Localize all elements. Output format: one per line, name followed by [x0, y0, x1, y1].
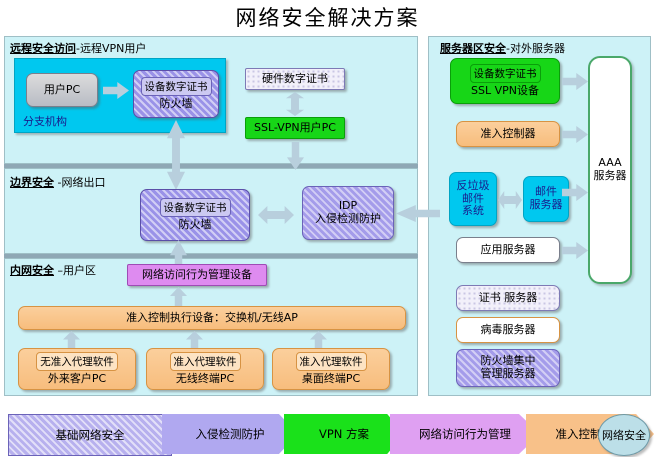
cert-server-label: 证书 服务器	[479, 292, 538, 305]
terminal-box-1-top-label: 无准入代理软件	[40, 356, 114, 368]
virus-server-label: 病毒服务器	[481, 324, 536, 337]
banner-step-2[interactable]: 入侵检测防护	[162, 414, 298, 454]
banner-step-3[interactable]: VPN 方案	[284, 414, 404, 454]
banner-step-2-label: 入侵检测防护	[196, 426, 265, 442]
mail-server-box[interactable]: 邮件 服务器	[523, 176, 569, 222]
antispam-line-3: 系统	[462, 205, 484, 218]
aaa-server-line-2: 服务器	[594, 170, 627, 183]
mail-server-line-2: 服务器	[530, 199, 563, 212]
virus-server-box[interactable]: 病毒服务器	[456, 317, 560, 343]
ssl-vpn-device-cert-label: 设备数字证书	[474, 68, 537, 80]
ssl-vpn-user-pc-label: SSL-VPN用户PC	[254, 122, 336, 135]
access-exec-device-box[interactable]: 准入控制执行设备：交换机/无线AP	[18, 306, 406, 330]
idp-box[interactable]: IDP 入侵检测防护	[302, 186, 394, 240]
banner-step-4[interactable]: 网络访问行为管理	[390, 414, 540, 454]
hardware-cert-box[interactable]: 硬件数字证书	[245, 68, 345, 90]
section-label-intranet: 内网安全 –用户区	[10, 262, 96, 278]
idp-label-line2: 入侵检测防护	[315, 213, 381, 226]
section-label-intranet-bold: 内网安全	[10, 264, 54, 277]
section-label-remote-bold: 远程安全访问	[10, 42, 76, 55]
antispam-system-box[interactable]: 反垃圾 邮件 系统	[449, 172, 497, 226]
access-controller-box[interactable]: 准入控制器	[456, 121, 560, 147]
firewall-mgmt-server-box[interactable]: 防火墙集中 管理服务器	[456, 349, 560, 387]
page-title: 网络安全解决方案	[0, 2, 655, 32]
terminal-box-2[interactable]: 准入代理软件 无线终端PC	[146, 348, 264, 390]
terminal-box-3-bottom-label: 桌面终端PC	[302, 373, 360, 386]
terminal-box-2-top: 准入代理软件	[170, 352, 241, 371]
terminal-box-2-bottom-label: 无线终端PC	[176, 373, 234, 386]
terminal-box-3[interactable]: 准入代理软件 桌面终端PC	[272, 348, 390, 390]
solution-flow-banner: 基础网络安全 入侵检测防护 VPN 方案 网络访问行为管理 准入控制方案	[8, 414, 648, 454]
behavior-mgmt-device-label: 网络访问行为管理设备	[142, 269, 252, 282]
access-controller-label: 准入控制器	[481, 128, 536, 141]
behavior-mgmt-device-box[interactable]: 网络访问行为管理设备	[127, 264, 267, 286]
terminal-box-3-top: 准入代理软件	[296, 352, 367, 371]
branch-office-label: 分支机构	[23, 113, 67, 129]
border-firewall-box[interactable]: 设备数字证书 防火墙	[140, 189, 250, 241]
border-firewall-label: 防火墙	[179, 219, 212, 232]
user-pc-box[interactable]: 用户PC	[26, 73, 98, 107]
banner-result-ellipse[interactable]: 网络安全	[598, 414, 650, 456]
section-label-border-bold: 边界安全	[10, 176, 54, 189]
ssl-vpn-device-box[interactable]: 设备数字证书 SSL VPN设备	[450, 58, 560, 104]
banner-step-4-label: 网络访问行为管理	[419, 426, 511, 442]
ssl-vpn-device-cert-box: 设备数字证书	[470, 64, 541, 83]
section-label-server: 服务器区安全-对外服务器	[440, 40, 565, 56]
antispam-line-1: 反垃圾	[457, 180, 490, 193]
section-label-remote-rest: -远程VPN用户	[76, 42, 146, 55]
banner-result-label: 网络安全	[602, 427, 646, 443]
remote-firewall-cert-label: 设备数字证书	[145, 81, 208, 93]
ssl-vpn-device-label: SSL VPN设备	[471, 85, 539, 98]
section-label-server-bold: 服务器区安全	[440, 42, 506, 55]
hardware-cert-label: 硬件数字证书	[262, 73, 328, 86]
remote-firewall-label: 防火墙	[160, 98, 193, 111]
aaa-server-box[interactable]: AAA 服务器	[588, 56, 632, 284]
banner-step-1[interactable]: 基础网络安全	[8, 414, 172, 456]
border-firewall-cert-label: 设备数字证书	[164, 202, 227, 214]
user-pc-label: 用户PC	[44, 84, 80, 97]
terminal-box-2-top-label: 准入代理软件	[174, 356, 237, 368]
ssl-vpn-user-pc-box[interactable]: SSL-VPN用户PC	[245, 117, 345, 139]
border-firewall-cert-box: 设备数字证书	[160, 198, 231, 217]
banner-step-3-label: VPN 方案	[319, 426, 369, 442]
access-exec-device-label: 准入控制执行设备：交换机/无线AP	[126, 312, 298, 325]
app-server-label: 应用服务器	[481, 244, 536, 257]
remote-firewall-cert-box: 设备数字证书	[141, 77, 212, 96]
terminal-box-1-bottom-label: 外来客户PC	[48, 373, 106, 386]
remote-firewall-box[interactable]: 设备数字证书 防火墙	[133, 70, 219, 118]
section-label-border: 边界安全 -网络出口	[10, 174, 105, 190]
section-label-remote: 远程安全访问-远程VPN用户	[10, 40, 146, 56]
section-label-border-rest: -网络出口	[54, 176, 105, 189]
app-server-box[interactable]: 应用服务器	[456, 237, 560, 263]
terminal-box-1-top: 无准入代理软件	[36, 352, 118, 371]
banner-step-1-label: 基础网络安全	[56, 427, 125, 443]
section-label-server-rest: -对外服务器	[506, 42, 565, 55]
section-label-intranet-rest: –用户区	[54, 264, 96, 277]
cert-server-box[interactable]: 证书 服务器	[456, 285, 560, 311]
terminal-box-3-top-label: 准入代理软件	[300, 356, 363, 368]
terminal-box-1[interactable]: 无准入代理软件 外来客户PC	[18, 348, 136, 390]
firewall-mgmt-line-2: 管理服务器	[481, 368, 536, 381]
